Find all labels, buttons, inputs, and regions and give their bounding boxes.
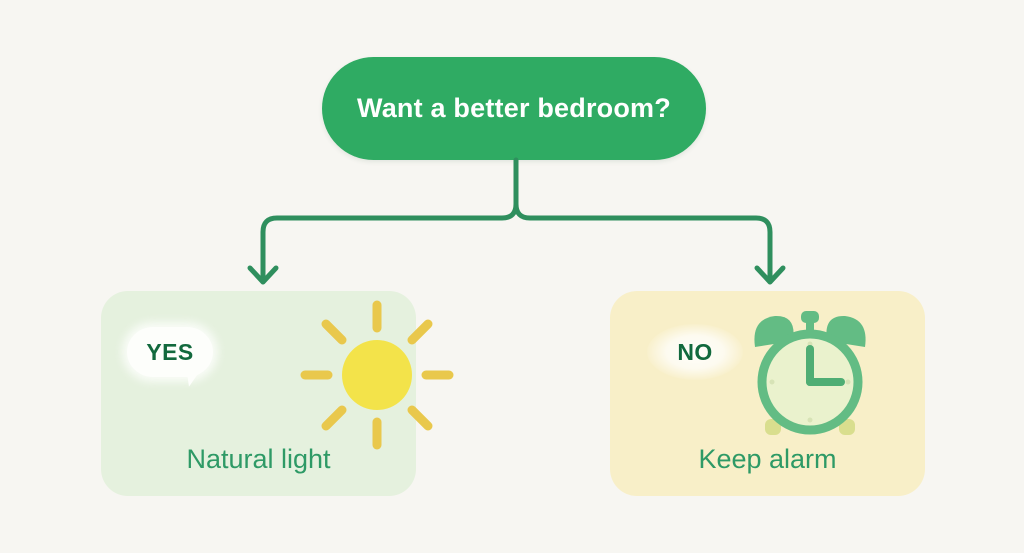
arrowhead-right xyxy=(757,268,783,282)
sun-icon xyxy=(287,295,467,455)
branch-card-no[interactable]: NO xyxy=(610,291,925,496)
flowchart-canvas: Want a better bedroom? YES xyxy=(0,0,1024,553)
answer-label-no: NO xyxy=(677,339,712,366)
arrowhead-left xyxy=(250,268,276,282)
branch-label-no: Keep alarm xyxy=(610,444,925,475)
answer-bubble-yes: YES xyxy=(127,327,213,377)
branch-card-yes[interactable]: YES Natural light xyxy=(101,291,416,496)
answer-label-yes: YES xyxy=(127,327,213,377)
connector-left-branch xyxy=(263,204,516,276)
root-question-label: Want a better bedroom? xyxy=(357,93,671,124)
alarm-clock-icon xyxy=(735,299,885,449)
connector-right-branch xyxy=(516,160,770,276)
answer-badge-no: NO xyxy=(652,327,738,377)
branch-label-yes: Natural light xyxy=(101,444,416,475)
root-question-node[interactable]: Want a better bedroom? xyxy=(322,57,706,160)
